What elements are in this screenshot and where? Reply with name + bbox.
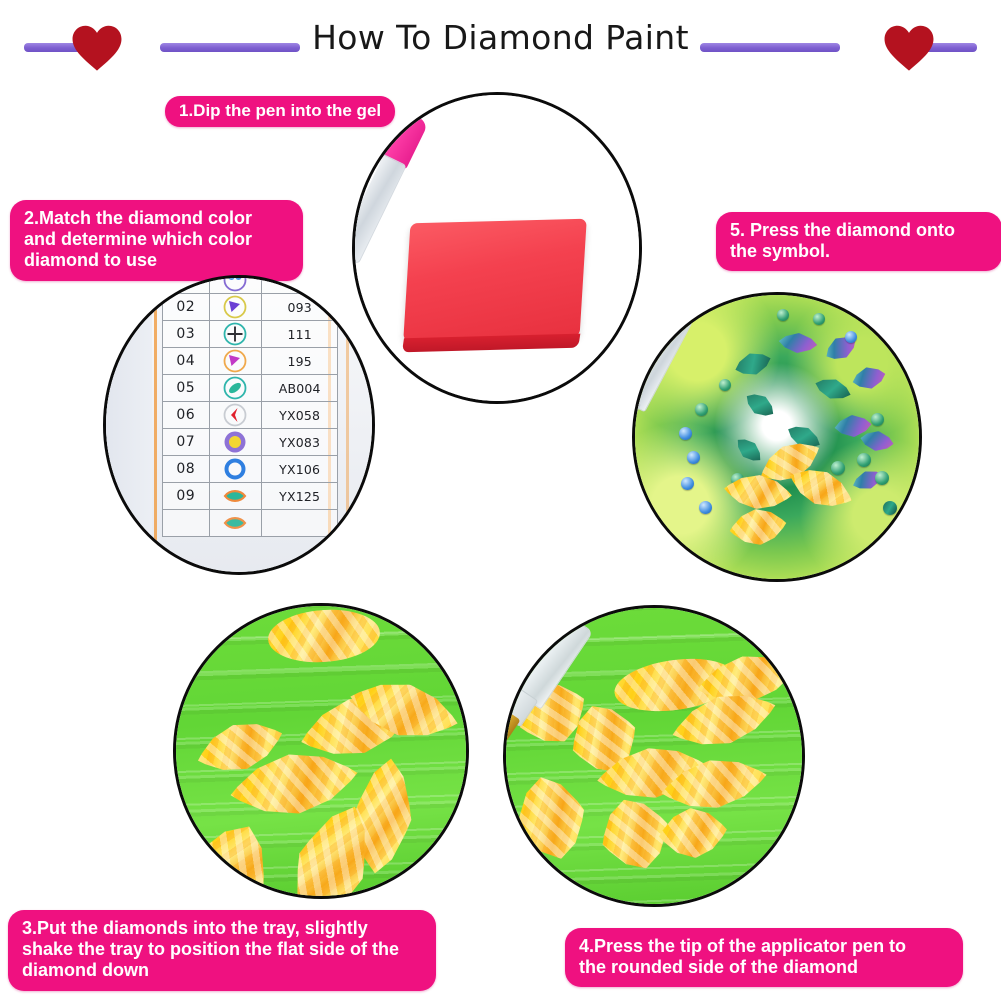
header: How To Diamond Paint: [0, 0, 1001, 90]
legend-index: 09: [163, 483, 210, 510]
step-3-line-3: diamond down: [22, 960, 422, 981]
legend-row: 03111: [163, 321, 338, 348]
step-4-label: 4.Press the tip of the applicator pen to…: [565, 928, 963, 987]
legend-index: 06: [163, 402, 210, 429]
infographic-canvas: How To Diamond Paint 1.Dip the pen into …: [0, 0, 1001, 1001]
mandala-round-gem: [875, 471, 889, 485]
legend-index: 04: [163, 348, 210, 375]
step-5-line-2: the symbol.: [730, 241, 988, 262]
legend-index: 02: [163, 294, 210, 321]
legend-code: YX125: [262, 483, 338, 510]
mandala-round-gem: [695, 403, 708, 416]
chart-orange-line: [154, 278, 157, 572]
legend-index: [163, 275, 210, 294]
legend-symbol-icon: [209, 402, 262, 429]
step-2-line-1: 2.Match the diamond color: [24, 208, 289, 229]
legend-code: 028: [262, 275, 338, 294]
legend-row: 09YX125: [163, 483, 338, 510]
legend-symbol-icon: [209, 429, 262, 456]
mandala-round-gem: [679, 427, 692, 440]
legend-symbol-icon: [209, 483, 262, 510]
legend-code: 093: [262, 294, 338, 321]
page-title: How To Diamond Paint: [0, 18, 1001, 57]
legend-code: 111: [262, 321, 338, 348]
step-2-line-2: and determine which color: [24, 229, 289, 250]
legend-row: 07YX083: [163, 429, 338, 456]
legend-index: 07: [163, 429, 210, 456]
legend-row: 06YX058: [163, 402, 338, 429]
legend-index: [163, 510, 210, 537]
mandala-round-gem: [681, 477, 694, 490]
legend-row: 028: [163, 275, 338, 294]
legend-symbol-icon: [209, 348, 262, 375]
legend-code: YX058: [262, 402, 338, 429]
legend-symbol-icon: [209, 510, 262, 537]
legend-symbol-icon: [209, 321, 262, 348]
legend-row: 04195: [163, 348, 338, 375]
mandala-round-gem: [845, 331, 857, 343]
mandala-round-gem: [699, 501, 712, 514]
legend-table: 02802093031110419505AB00406YX05807YX0830…: [162, 275, 338, 537]
canvas-edge: [106, 278, 152, 572]
legend-index: 08: [163, 456, 210, 483]
step-3-line-1: 3.Put the diamonds into the tray, slight…: [22, 918, 422, 939]
legend-index: 03: [163, 321, 210, 348]
step-2-photo-diamond-color-legend-chart: 02802093031110419505AB00406YX05807YX0830…: [103, 275, 375, 575]
step-3-photo-yellow-diamonds-in-green-tray: [173, 603, 469, 899]
step-5-line-1: 5. Press the diamond onto: [730, 220, 988, 241]
gel-pad: [403, 219, 587, 342]
step-3-line-2: shake the tray to position the flat side…: [22, 939, 422, 960]
step-2-label: 2.Match the diamond color and determine …: [10, 200, 303, 281]
step-4-photo-pen-picking-up-diamond: [503, 605, 805, 907]
legend-symbol-icon: [209, 275, 262, 294]
step-1-text: 1.Dip the pen into the gel: [179, 101, 381, 121]
mandala-round-gem: [719, 379, 731, 391]
mandala-round-gem: [871, 413, 884, 426]
legend-symbol-icon: [209, 456, 262, 483]
step-1-photo-pen-dipping-into-gel: [352, 92, 642, 404]
legend-row: 08YX106: [163, 456, 338, 483]
mandala-round-gem: [813, 313, 825, 325]
yellow-diamond: [266, 606, 381, 666]
mandala-round-gem: [777, 309, 789, 321]
step-3-label: 3.Put the diamonds into the tray, slight…: [8, 910, 436, 991]
step-4-line-1: 4.Press the tip of the applicator pen to: [579, 936, 949, 957]
legend-index: 05: [163, 375, 210, 402]
legend-row: 02093: [163, 294, 338, 321]
step-4-line-2: the rounded side of the diamond: [579, 957, 949, 978]
legend-code: [262, 510, 338, 537]
step-2-line-3: diamond to use: [24, 250, 289, 271]
chart-orange-line: [346, 278, 349, 572]
yellow-diamond: [654, 804, 733, 861]
legend-code: AB004: [262, 375, 338, 402]
mandala-round-gem: [831, 461, 845, 475]
mandala-round-gem: [883, 501, 897, 515]
legend-code: YX106: [262, 456, 338, 483]
legend-symbol-icon: [209, 294, 262, 321]
mandala-round-gem: [857, 453, 871, 467]
step-5-photo-pressing-diamond-onto-mandala-symbol: [632, 292, 922, 582]
legend-code: 195: [262, 348, 338, 375]
legend-row: [163, 510, 338, 537]
mandala-round-gem: [687, 451, 700, 464]
legend-code: YX083: [262, 429, 338, 456]
step-5-label: 5. Press the diamond onto the symbol.: [716, 212, 1001, 271]
legend-row: 05AB004: [163, 375, 338, 402]
legend-symbol-icon: [209, 375, 262, 402]
